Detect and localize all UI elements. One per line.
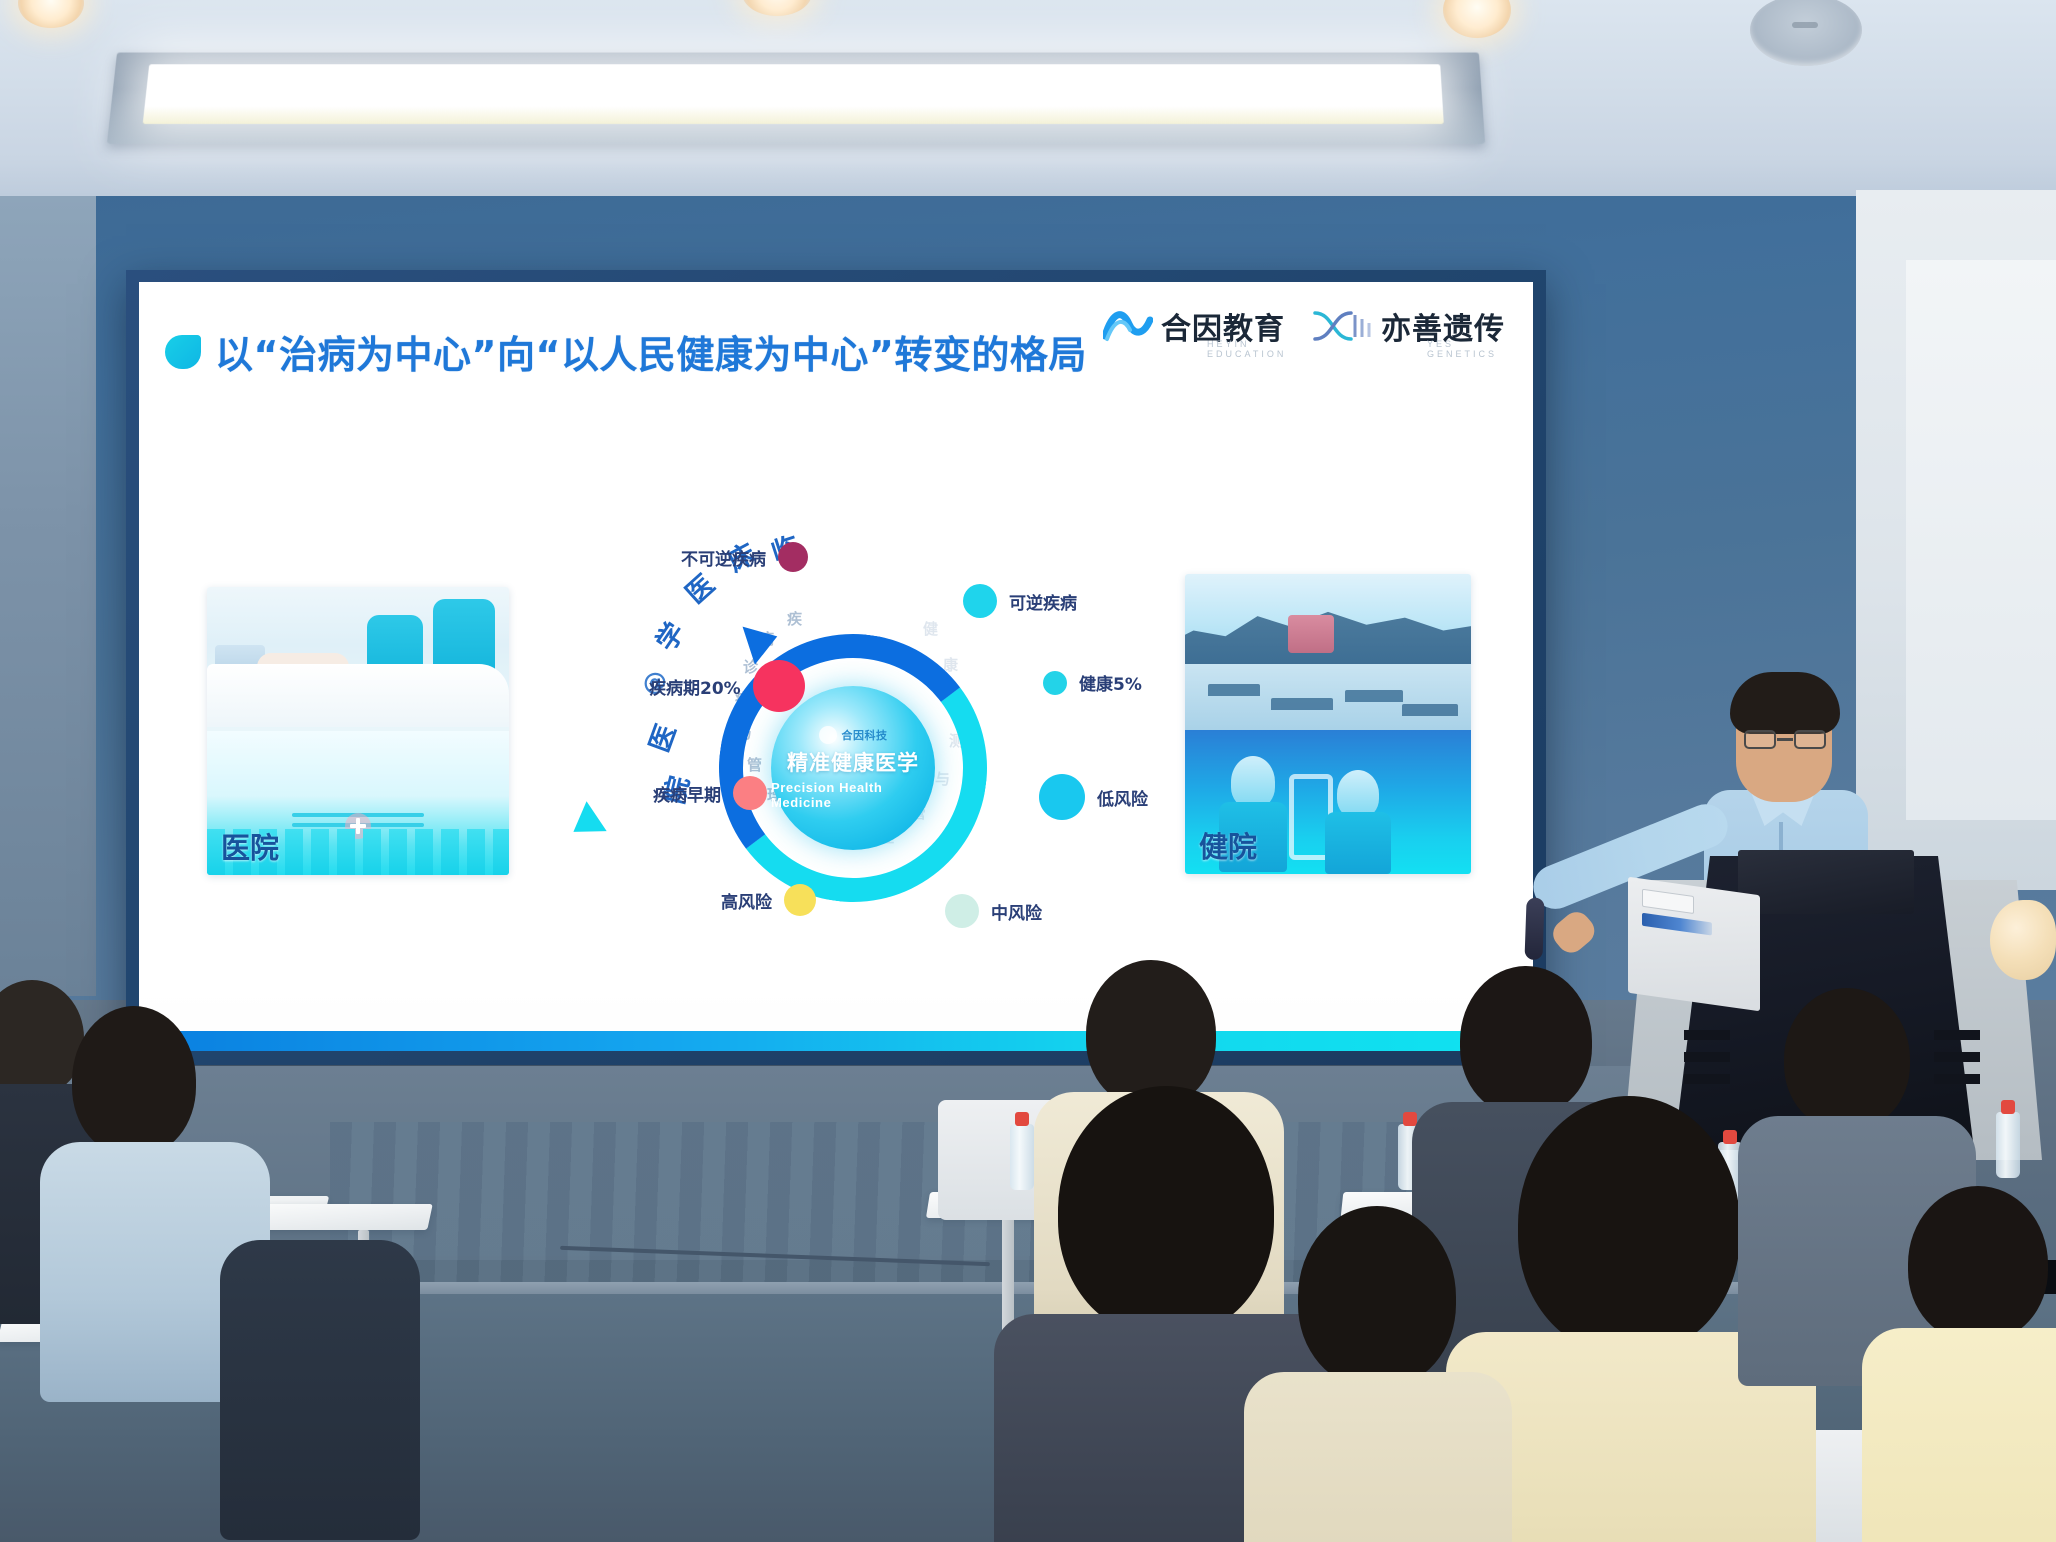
ceiling-speaker-icon xyxy=(1750,0,1862,66)
flower-decoration xyxy=(1990,900,2056,980)
arc-word-outer: 医 xyxy=(638,718,684,757)
gym-person-body xyxy=(1325,812,1391,874)
core-english: Precision Health Medicine xyxy=(771,780,935,810)
health-continuum-diagram: 临 床 医 学 @ 医 院 疾 病 诊 疗 与 管 理 健 xyxy=(531,522,1179,1014)
node-disease-stage: 疾病期20% xyxy=(649,660,805,712)
logo-heyin: 合因教育 HEYIN EDUCATION xyxy=(1103,304,1285,348)
node-dot xyxy=(733,776,767,810)
photo-hospital-surgery xyxy=(207,587,509,731)
lectern-vent xyxy=(1684,1074,1730,1084)
node-label: 健康5% xyxy=(1079,670,1142,695)
arc-word-outer: 学 xyxy=(645,613,692,657)
downlight-icon xyxy=(1443,0,1511,38)
person-head xyxy=(1298,1206,1456,1388)
presentation-pointer xyxy=(1524,897,1544,960)
hospital-bed-prop xyxy=(207,664,509,727)
person-body xyxy=(1244,1372,1512,1542)
node-dot xyxy=(963,584,997,618)
person-head xyxy=(1784,988,1910,1130)
ceiling xyxy=(0,0,2056,212)
projection-screen-frame: 以“治病为中心”向“以人民健康为中心”转变的格局 合因教育 HEYIN EDUC… xyxy=(126,270,1546,1065)
slide-canvas: 以“治病为中心”向“以人民健康为中心”转变的格局 合因教育 HEYIN EDUC… xyxy=(139,282,1533,1051)
audience-person xyxy=(1888,1186,2056,1542)
projection-screen: 以“治病为中心”向“以人民健康为中心”转变的格局 合因教育 HEYIN EDUC… xyxy=(139,282,1533,1051)
node-dot xyxy=(753,660,805,712)
logo-group: 合因教育 HEYIN EDUCATION 亦善 xyxy=(1103,304,1505,348)
glasses-icon xyxy=(1744,730,1826,750)
ceiling-panel-light xyxy=(143,64,1444,124)
laptop-sticker xyxy=(1642,913,1712,936)
logo-heyin-sub: HEYIN EDUCATION xyxy=(1207,339,1286,359)
roof-prop xyxy=(1345,690,1403,702)
person-head xyxy=(72,1006,196,1156)
node-label: 高风险 xyxy=(721,888,772,913)
presenter-hair xyxy=(1730,672,1840,734)
node-early-disease: 疾病早期 xyxy=(653,776,767,810)
photo-health: 健院 xyxy=(1185,574,1471,874)
person-head xyxy=(1518,1096,1740,1354)
lectern-vent xyxy=(1684,1052,1730,1062)
laptop-sticker xyxy=(1642,889,1694,914)
audience-person xyxy=(220,1180,400,1480)
node-low-risk: 低风险 xyxy=(1039,774,1148,820)
roof-prop xyxy=(1271,698,1333,710)
roof-prop xyxy=(1208,684,1260,696)
photo-health-village xyxy=(1185,574,1471,730)
node-high-risk: 高风险 xyxy=(721,884,816,916)
node-dot xyxy=(1043,671,1067,695)
node-dot xyxy=(945,894,979,928)
core-brand: 合因科技 xyxy=(819,726,888,744)
page-title: 以“治病为中心”向“以人民健康为中心”转变的格局 xyxy=(215,324,1087,379)
node-label: 疾病期20% xyxy=(649,674,741,699)
gym-person-prop xyxy=(1231,756,1275,808)
person-head xyxy=(1058,1086,1274,1336)
node-irreversible-disease: 不可逆疾病 xyxy=(681,542,808,572)
logo-yesgenetics: 亦善遗传 YES GENETICS xyxy=(1311,304,1505,348)
node-label: 低风险 xyxy=(1097,785,1148,810)
arc-word-right: 健 xyxy=(923,618,938,639)
arc-word-inner: 疾 xyxy=(787,608,802,629)
node-dot xyxy=(784,884,816,916)
person-head xyxy=(1908,1186,2048,1342)
wave-icon xyxy=(1103,306,1153,346)
arrow-head-cyan-icon xyxy=(563,801,606,847)
lecture-hall-scene: 以“治病为中心”向“以人民健康为中心”转变的格局 合因教育 HEYIN EDUC… xyxy=(0,0,2056,1542)
audience-person xyxy=(1262,1206,1492,1542)
downlight-icon xyxy=(18,0,84,28)
water-bottle xyxy=(1996,1112,2020,1178)
node-healthy: 健康5% xyxy=(1043,670,1142,695)
roof-prop xyxy=(1402,704,1458,716)
tulou-building-prop xyxy=(1288,615,1334,653)
photo-hospital-label: 医院 xyxy=(221,825,279,867)
person-body xyxy=(220,1240,420,1540)
node-label: 可逆疾病 xyxy=(1009,589,1077,614)
logo-yesgenetics-sub: YES GENETICS xyxy=(1427,339,1505,359)
audience-person xyxy=(56,1006,236,1306)
person-body xyxy=(1862,1328,2056,1542)
gym-person-prop xyxy=(1337,770,1379,818)
right-wall-panel-inner xyxy=(1906,260,2056,820)
photo-hospital: 医院 xyxy=(207,587,509,875)
node-reversible-disease: 可逆疾病 xyxy=(963,584,1077,618)
dna-icon xyxy=(1311,307,1373,345)
left-wall-strip xyxy=(0,196,96,996)
slide-footer-bar xyxy=(139,1031,1533,1051)
node-dot xyxy=(778,542,808,572)
lectern-laptop[interactable] xyxy=(1628,877,1760,1012)
downlight-icon xyxy=(742,0,812,16)
core-brand-label: 合因科技 xyxy=(842,727,888,743)
person-head xyxy=(1460,966,1592,1116)
lectern-monitor xyxy=(1738,850,1914,914)
title-bullet-icon xyxy=(165,335,201,369)
core-title: 精准健康医学 xyxy=(787,747,919,777)
presenter-hand xyxy=(1548,906,1600,958)
node-dot xyxy=(1039,774,1085,820)
core-brand-icon xyxy=(819,726,837,744)
photo-health-label: 健院 xyxy=(1199,824,1257,866)
node-label: 不可逆疾病 xyxy=(681,545,766,570)
node-label: 疾病早期 xyxy=(653,781,721,806)
node-medium-risk: 中风险 xyxy=(945,894,1042,928)
lectern-vent xyxy=(1684,1030,1730,1040)
node-label: 中风险 xyxy=(991,899,1042,924)
